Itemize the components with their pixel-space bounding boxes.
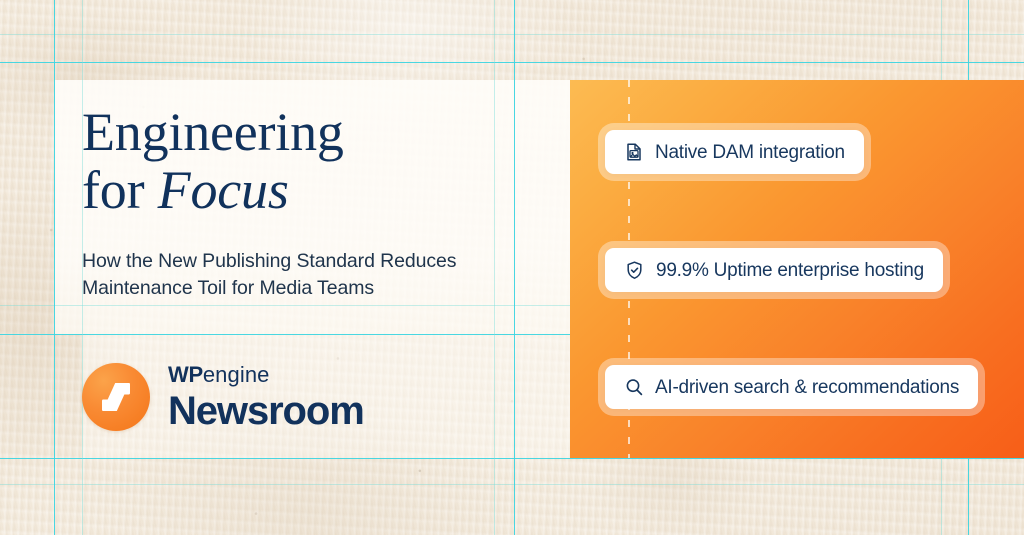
logo-wp-engine-line: WPengine xyxy=(168,364,364,386)
feature-pill-ai-search[interactable]: AI-driven search & recommendations xyxy=(605,365,978,409)
feature-pill-label: AI-driven search & recommendations xyxy=(655,378,959,397)
page-subtitle: How the New Publishing Standard Reduces … xyxy=(82,248,482,303)
logo-word-newsroom: Newsroom xyxy=(168,391,364,431)
headline-line-2: for Focus xyxy=(82,162,522,220)
feature-pill-label: 99.9% Uptime enterprise hosting xyxy=(656,261,924,280)
page-title: Engineering for Focus xyxy=(82,104,522,220)
search-icon xyxy=(624,377,644,397)
wp-engine-newsroom-logo: WPengine Newsroom xyxy=(82,363,364,431)
feature-pill-label: Native DAM integration xyxy=(655,143,845,162)
logo-wordmark: WPengine Newsroom xyxy=(168,364,364,431)
subtitle-line-1: How the New Publishing Standard Reduces xyxy=(82,248,482,276)
feature-panel: Native DAM integration 99.9% Uptime ente… xyxy=(570,80,1024,458)
shield-check-icon xyxy=(624,260,645,281)
feature-pill-native-dam[interactable]: Native DAM integration xyxy=(605,130,864,174)
feature-pill-uptime[interactable]: 99.9% Uptime enterprise hosting xyxy=(605,248,943,292)
logo-word-engine: engine xyxy=(203,362,270,387)
image-document-icon xyxy=(624,142,644,162)
wp-engine-mark-icon xyxy=(82,363,150,431)
hero-text-block: Engineering for Focus How the New Publis… xyxy=(82,104,522,303)
headline-line-1: Engineering xyxy=(82,104,522,162)
headline-line-2-italic: Focus xyxy=(158,160,289,220)
subtitle-line-2: Maintenance Toil for Media Teams xyxy=(82,275,482,303)
poster-canvas: Engineering for Focus How the New Publis… xyxy=(0,0,1024,535)
headline-line-2-plain: for xyxy=(82,160,158,220)
logo-word-wp: WP xyxy=(168,362,203,387)
